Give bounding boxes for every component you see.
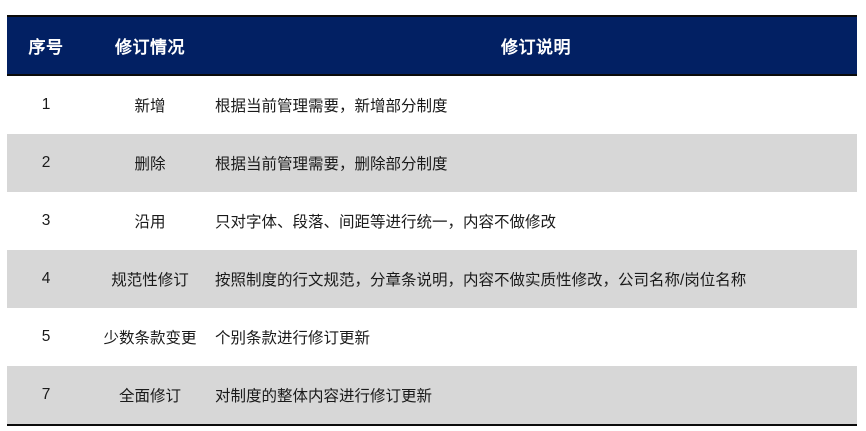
cell-type: 删除	[85, 134, 215, 192]
cell-description: 根据当前管理需要，新增部分制度	[215, 75, 857, 134]
cell-description: 个别条款进行修订更新	[215, 308, 857, 366]
table-row: 4 规范性修订 按照制度的行文规范，分章条说明，内容不做实质性修改，公司名称/岗…	[7, 250, 857, 308]
column-header-description: 修订说明	[215, 16, 857, 75]
cell-type: 沿用	[85, 192, 215, 250]
column-header-no: 序号	[7, 16, 85, 75]
cell-description: 按照制度的行文规范，分章条说明，内容不做实质性修改，公司名称/岗位名称	[215, 250, 857, 308]
table-body: 1 新增 根据当前管理需要，新增部分制度 2 删除 根据当前管理需要，删除部分制…	[7, 75, 857, 425]
cell-no: 5	[7, 308, 85, 366]
cell-description: 只对字体、段落、间距等进行统一，内容不做修改	[215, 192, 857, 250]
table-header-row: 序号 修订情况 修订说明	[7, 16, 857, 75]
cell-no: 7	[7, 366, 85, 425]
cell-type: 规范性修订	[85, 250, 215, 308]
table-row: 1 新增 根据当前管理需要，新增部分制度	[7, 75, 857, 134]
cell-type: 全面修订	[85, 366, 215, 425]
table-row: 2 删除 根据当前管理需要，删除部分制度	[7, 134, 857, 192]
revision-table: 序号 修订情况 修订说明 1 新增 根据当前管理需要，新增部分制度 2 删除 根…	[7, 15, 857, 426]
table-row: 5 少数条款变更 个别条款进行修订更新	[7, 308, 857, 366]
page-root: 序号 修订情况 修订说明 1 新增 根据当前管理需要，新增部分制度 2 删除 根…	[0, 0, 866, 431]
table-row: 7 全面修订 对制度的整体内容进行修订更新	[7, 366, 857, 425]
table-row: 3 沿用 只对字体、段落、间距等进行统一，内容不做修改	[7, 192, 857, 250]
column-header-type: 修订情况	[85, 16, 215, 75]
table-header: 序号 修订情况 修订说明	[7, 16, 857, 75]
cell-description: 对制度的整体内容进行修订更新	[215, 366, 857, 425]
cell-type: 新增	[85, 75, 215, 134]
cell-no: 3	[7, 192, 85, 250]
cell-no: 1	[7, 75, 85, 134]
cell-no: 4	[7, 250, 85, 308]
cell-description: 根据当前管理需要，删除部分制度	[215, 134, 857, 192]
cell-no: 2	[7, 134, 85, 192]
cell-type: 少数条款变更	[85, 308, 215, 366]
